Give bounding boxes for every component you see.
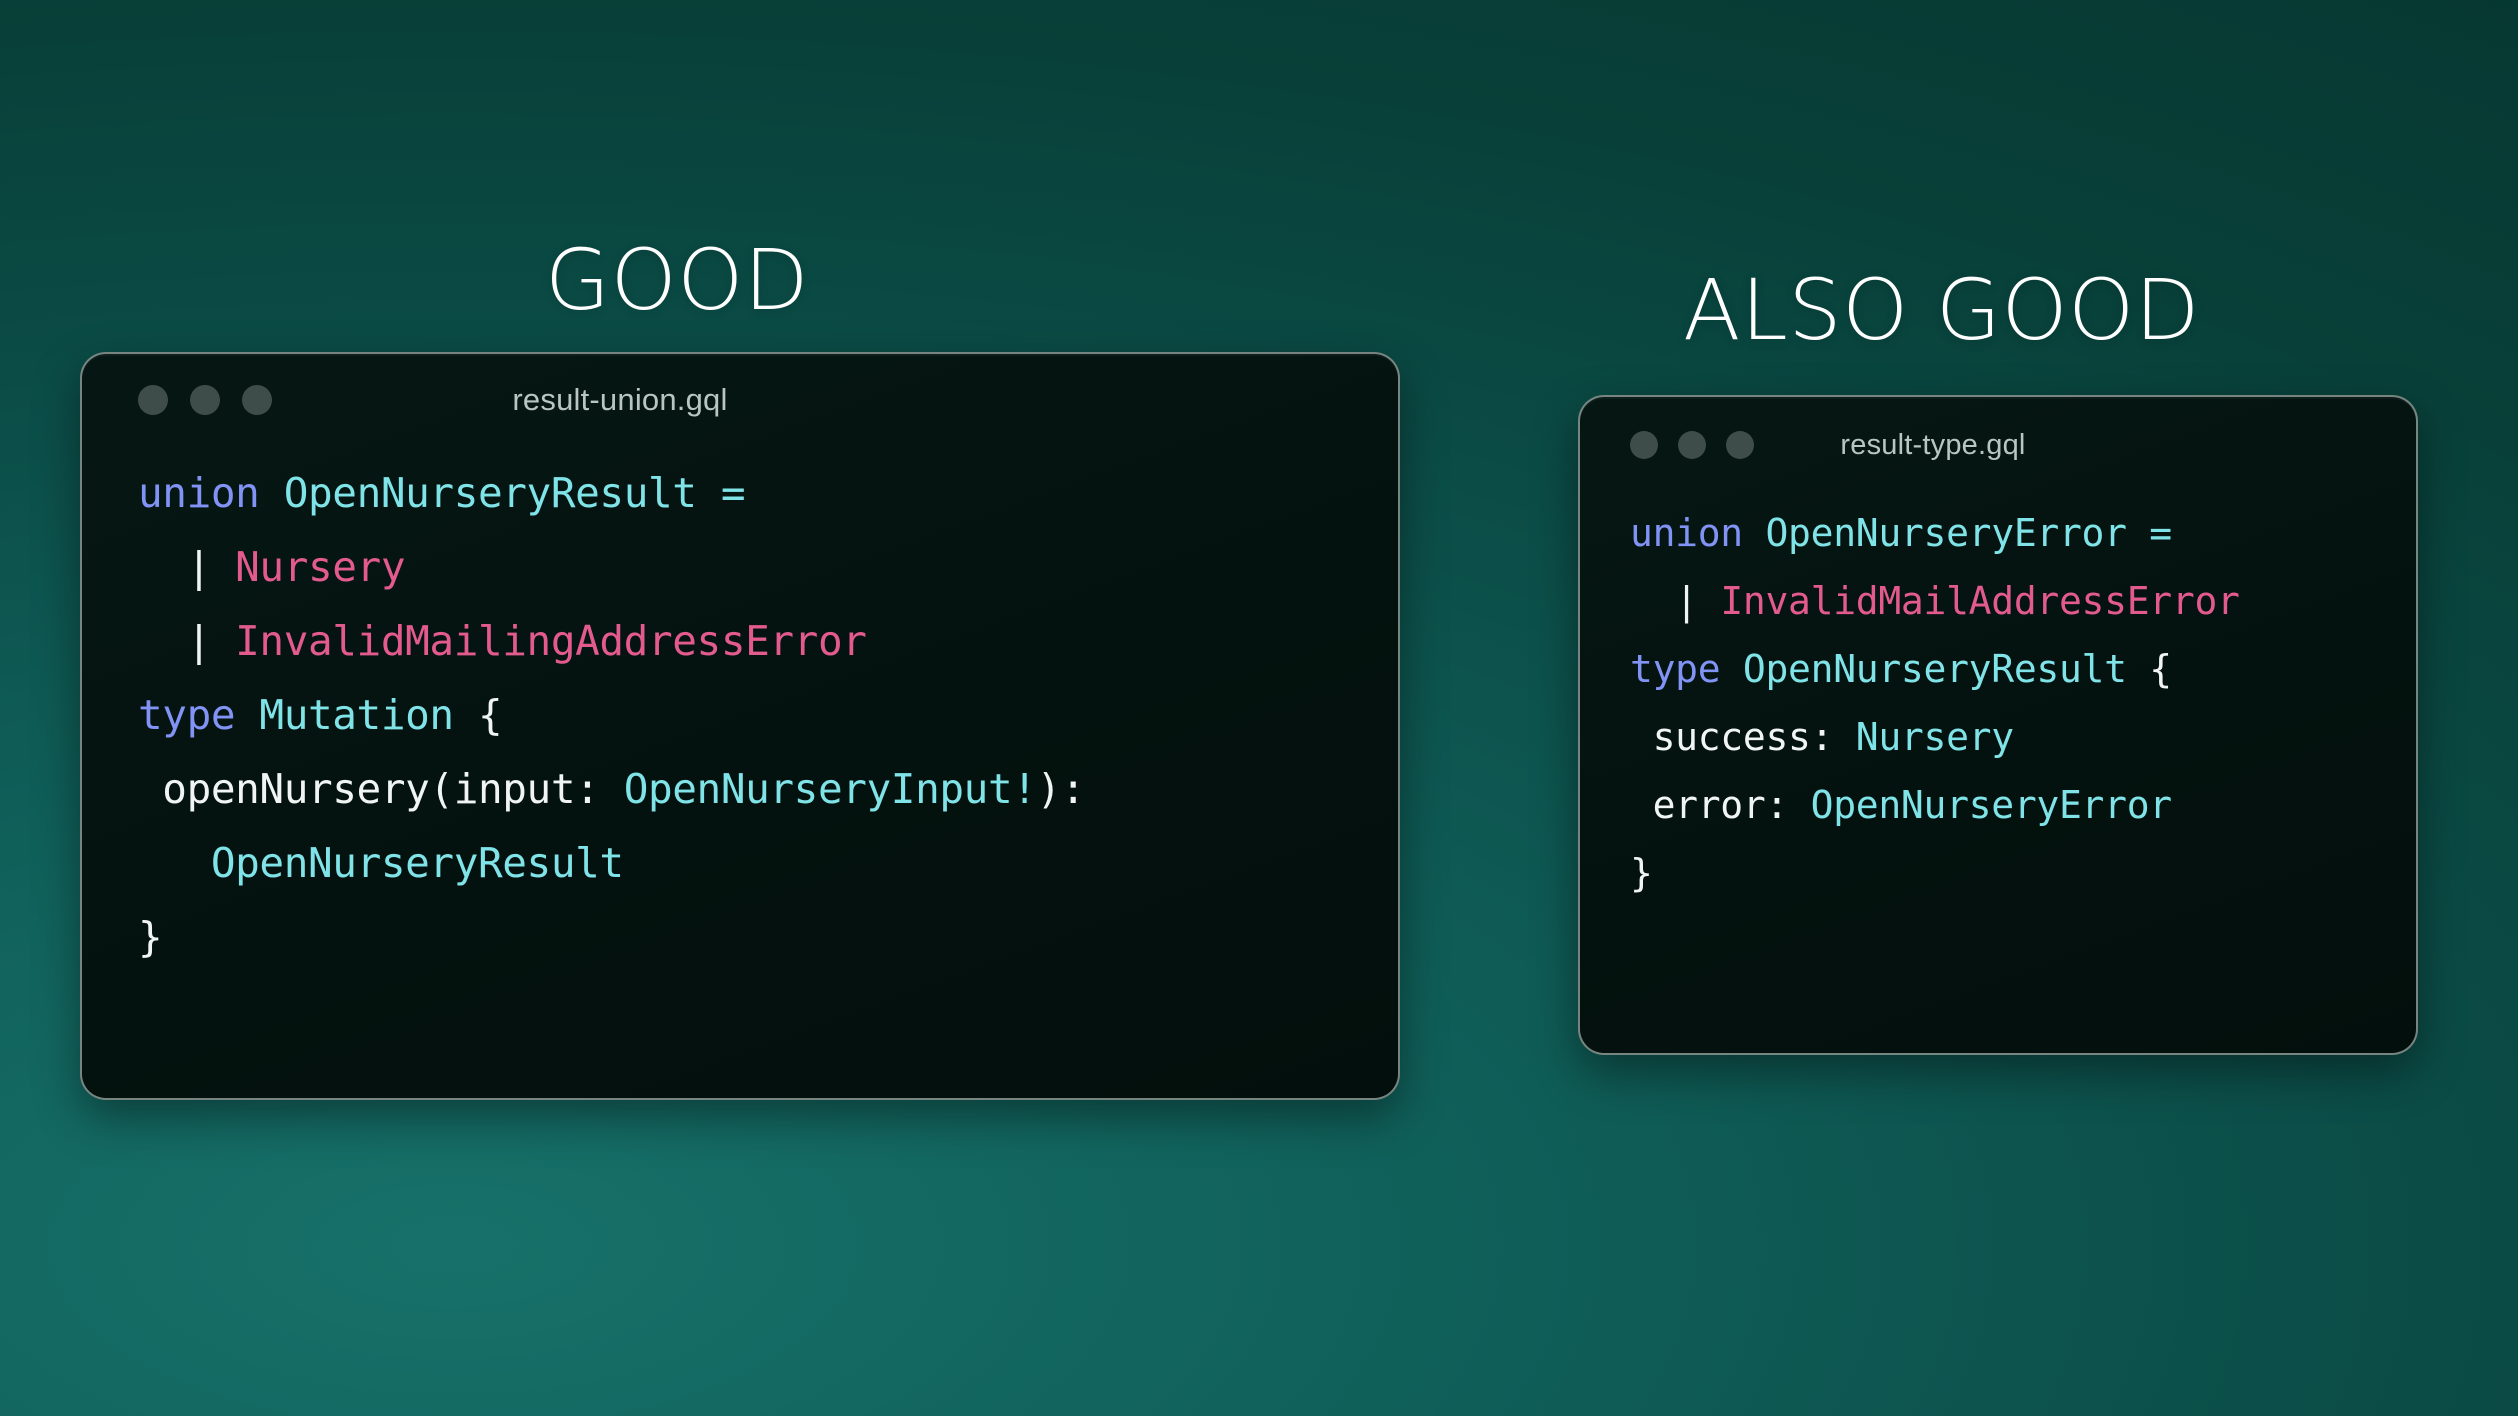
code-line: } xyxy=(138,900,1398,974)
code-token-keyword: type xyxy=(138,691,259,739)
code-block-good: union OpenNurseryResult = | Nursery | In… xyxy=(82,446,1398,974)
code-window-also-good: result-type.gql union OpenNurseryError =… xyxy=(1578,395,2418,1055)
code-token-plain: } xyxy=(1630,851,1653,895)
code-token-plain xyxy=(138,839,211,887)
window-titlebar: result-union.gql xyxy=(82,354,1398,446)
close-dot-icon[interactable] xyxy=(138,385,168,415)
code-token-type: OpenNurseryResult xyxy=(1743,647,2149,691)
code-line: error: OpenNurseryError xyxy=(1630,771,2416,839)
code-token-plain: ): xyxy=(1037,765,1086,813)
code-token-plain: { xyxy=(2149,647,2172,691)
code-line: type Mutation { xyxy=(138,678,1398,752)
heading-good: GOOD xyxy=(545,238,809,322)
code-token-plain: | xyxy=(1630,579,1720,623)
code-token-member: InvalidMailAddressError xyxy=(1720,579,2239,623)
code-token-type: OpenNurseryResult xyxy=(211,839,624,887)
code-line: } xyxy=(1630,839,2416,907)
code-token-plain: openNursery(input: xyxy=(138,765,624,813)
code-line: success: Nursery xyxy=(1630,703,2416,771)
code-line: | InvalidMailAddressError xyxy=(1630,567,2416,635)
code-token-type: OpenNurseryResult xyxy=(284,469,721,517)
code-line: | Nursery xyxy=(138,530,1398,604)
code-token-keyword: union xyxy=(1630,511,1765,555)
heading-also-good: ALSO GOOD xyxy=(1683,268,2200,352)
code-line: | InvalidMailingAddressError xyxy=(138,604,1398,678)
window-titlebar: result-type.gql xyxy=(1580,397,2416,493)
code-line: OpenNurseryResult xyxy=(138,826,1398,900)
code-line: union OpenNurseryResult = xyxy=(138,456,1398,530)
code-line: type OpenNurseryResult { xyxy=(1630,635,2416,703)
code-block-also-good: union OpenNurseryError = | InvalidMailAd… xyxy=(1580,493,2416,907)
code-token-plain: | xyxy=(138,543,235,591)
code-token-type: Nursery xyxy=(1856,715,2014,759)
code-line: union OpenNurseryError = xyxy=(1630,499,2416,567)
traffic-light-dots xyxy=(1630,431,1754,459)
code-token-plain: success: xyxy=(1630,715,1856,759)
code-token-type: OpenNurseryInput! xyxy=(624,765,1037,813)
code-token-member: Nursery xyxy=(235,543,405,591)
code-token-plain: } xyxy=(138,913,162,961)
minimize-dot-icon[interactable] xyxy=(1678,431,1706,459)
code-token-keyword: type xyxy=(1630,647,1743,691)
code-token-type: OpenNurseryError xyxy=(1811,783,2172,827)
close-dot-icon[interactable] xyxy=(1630,431,1658,459)
minimize-dot-icon[interactable] xyxy=(190,385,220,415)
code-token-plain: | xyxy=(138,617,235,665)
code-line: openNursery(input: OpenNurseryInput!): xyxy=(138,752,1398,826)
maximize-dot-icon[interactable] xyxy=(242,385,272,415)
code-token-type: OpenNurseryError xyxy=(1765,511,2149,555)
code-token-plain: error: xyxy=(1630,783,1811,827)
code-token-type: = xyxy=(721,469,745,517)
maximize-dot-icon[interactable] xyxy=(1726,431,1754,459)
code-token-plain: { xyxy=(478,691,502,739)
code-token-type: Mutation xyxy=(259,691,478,739)
code-token-member: InvalidMailingAddressError xyxy=(235,617,866,665)
code-token-type: = xyxy=(2149,511,2172,555)
traffic-light-dots xyxy=(138,385,272,415)
code-window-good: result-union.gql union OpenNurseryResult… xyxy=(80,352,1400,1100)
code-token-keyword: union xyxy=(138,469,284,517)
